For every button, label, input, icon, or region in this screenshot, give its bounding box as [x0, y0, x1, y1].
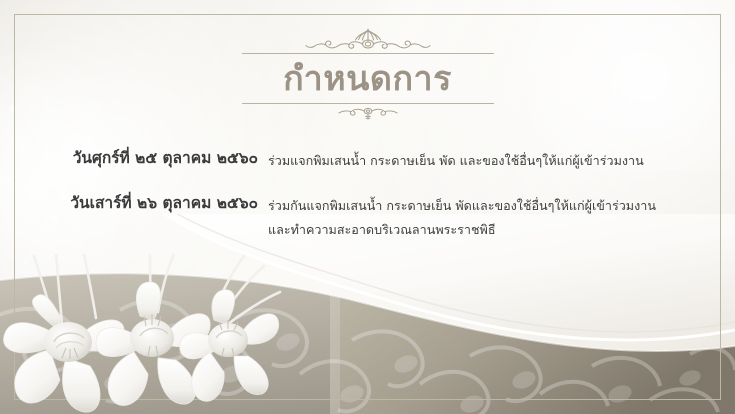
page-title: กำหนดการ	[0, 54, 735, 103]
schedule-row-2: วันเสาร์ที่ ๒๖ ตุลาคม ๒๕๖๐ ร่วมกันแจกพิม…	[0, 191, 735, 242]
schedule-description-line: ร่วมแจกพิมเสนน้ำ กระดาษเย็น พัด และของใช…	[268, 149, 735, 173]
flourish-ornament-icon	[293, 26, 443, 52]
schedule-list: วันศุกร์ที่ ๒๕ ตุลาคม ๒๕๖๐ ร่วมแจกพิมเสน…	[0, 146, 735, 242]
schedule-description: ร่วมแจกพิมเสนน้ำ กระดาษเย็น พัด และของใช…	[258, 146, 735, 173]
schedule-date: วันเสาร์ที่ ๒๖ ตุลาคม ๒๕๖๐	[0, 191, 258, 215]
white-curved-sweep	[0, 214, 735, 414]
damask-pattern-band	[0, 214, 735, 414]
orchid-left	[4, 295, 124, 412]
schedule-date: วันศุกร์ที่ ๒๕ ตุลาคม ๒๕๖๐	[0, 146, 258, 170]
title-block: กำหนดการ	[0, 26, 735, 122]
orchid-middle	[96, 282, 210, 406]
schedule-description: ร่วมกันแจกพิมเสนน้ำ กระดาษเย็น พัดและของ…	[258, 191, 735, 242]
schedule-description-line: ร่วมกันแจกพิมเสนน้ำ กระดาษเย็น พัดและของ…	[268, 194, 735, 218]
small-flourish-ornament-icon	[320, 106, 416, 122]
schedule-row-1: วันศุกร์ที่ ๒๕ ตุลาคม ๒๕๖๐ ร่วมแจกพิมเสน…	[0, 146, 735, 173]
title-rule-bottom	[242, 103, 494, 104]
white-orchid-flowers	[0, 254, 330, 414]
slide-canvas: กำหนดการ วันศุกร์ที่ ๒๕ ตุลาคม ๒๕๖๐ ร่วม…	[0, 0, 735, 414]
orchid-right	[180, 290, 279, 402]
schedule-description-line: และทำความสะอาดบริเวณลานพระราชพิธี	[268, 218, 735, 242]
